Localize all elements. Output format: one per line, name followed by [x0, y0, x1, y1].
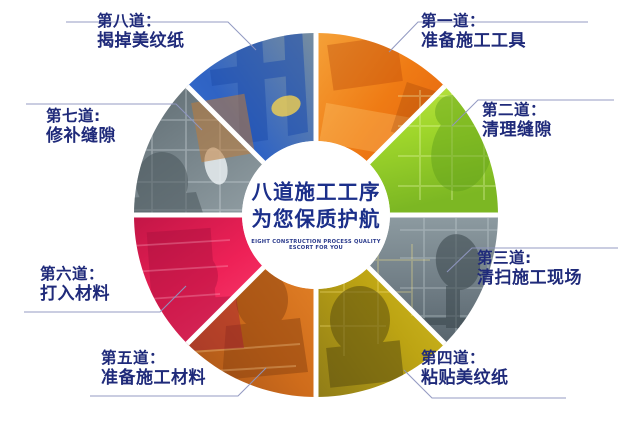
step-5-name: 准备施工材料: [101, 368, 206, 389]
step-label-1[interactable]: 第一道： 准备施工工具: [421, 12, 526, 52]
step-8-heading: 第八道：: [97, 12, 185, 31]
step-label-2[interactable]: 第二道： 清理缝隙: [482, 101, 552, 141]
step-label-7[interactable]: 第七道: 修补缝隙: [46, 107, 116, 147]
infographic-canvas: 八道施工工序 为您保质护航 EIGHT CONSTRUCTION PROCESS…: [0, 0, 628, 427]
step-8-name: 揭掉美纹纸: [97, 31, 185, 52]
step-1-heading: 第一道：: [421, 12, 526, 31]
step-6-heading: 第六道：: [40, 265, 110, 284]
center-title-line2: 为您保质护航: [241, 206, 391, 233]
step-label-6[interactable]: 第六道： 打入材料: [40, 265, 110, 305]
step-6-name: 打入材料: [40, 284, 110, 305]
step-4-name: 粘贴美纹纸: [421, 368, 509, 389]
step-label-4[interactable]: 第四道： 粘贴美纹纸: [421, 349, 509, 389]
step-5-heading: 第五道：: [101, 349, 206, 368]
step-7-name: 修补缝隙: [46, 126, 116, 147]
step-3-name: 清扫施工现场: [477, 268, 582, 289]
step-2-heading: 第二道：: [482, 101, 552, 120]
step-label-8[interactable]: 第八道： 揭掉美纹纸: [97, 12, 185, 52]
center-subtitle-en: EIGHT CONSTRUCTION PROCESS QUALITY ESCOR…: [241, 239, 391, 251]
center-title-block: 八道施工工序 为您保质护航 EIGHT CONSTRUCTION PROCESS…: [241, 179, 391, 251]
step-1-name: 准备施工工具: [421, 31, 526, 52]
step-3-heading: 第三道:: [477, 249, 582, 268]
step-7-heading: 第七道:: [46, 107, 116, 126]
center-title-line1: 八道施工工序: [241, 179, 391, 206]
step-4-heading: 第四道：: [421, 349, 509, 368]
step-label-3[interactable]: 第三道: 清扫施工现场: [477, 249, 582, 289]
step-label-5[interactable]: 第五道： 准备施工材料: [101, 349, 206, 389]
step-2-name: 清理缝隙: [482, 120, 552, 141]
